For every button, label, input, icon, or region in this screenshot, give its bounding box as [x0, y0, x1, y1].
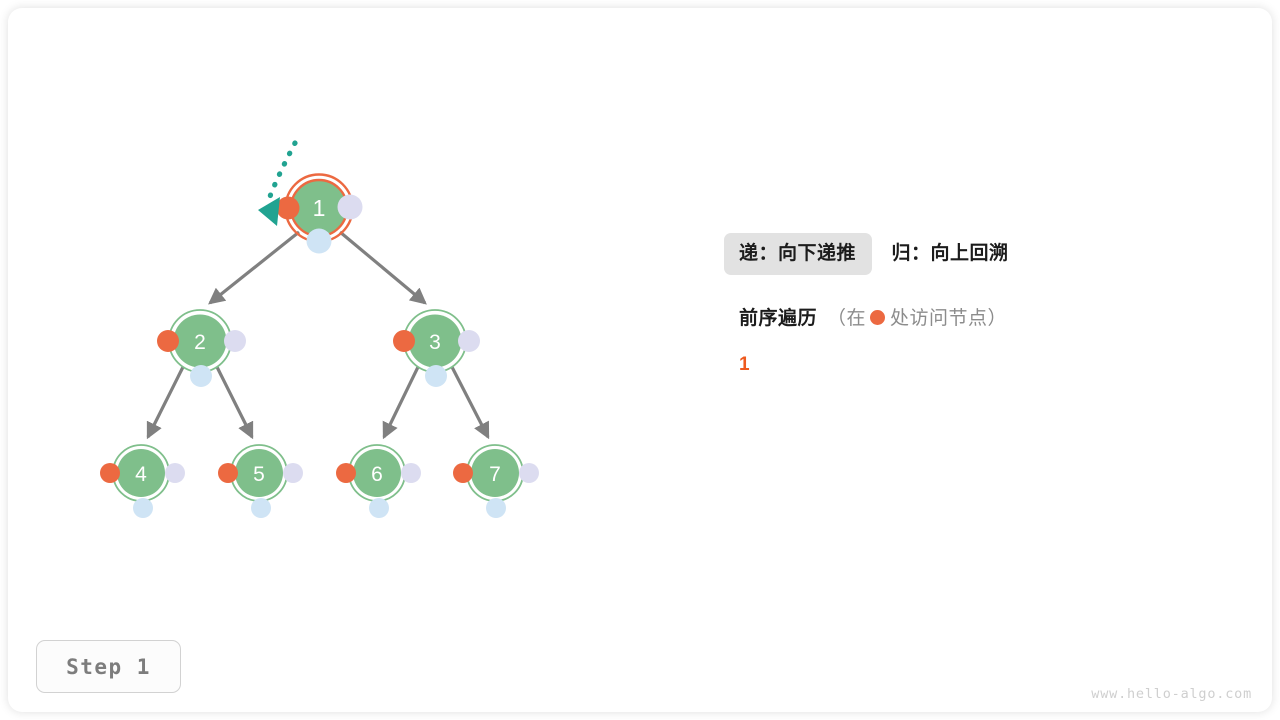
node-7-right-dot — [519, 463, 539, 483]
traversal-result: 1 — [726, 354, 1196, 376]
node-7-label: 7 — [489, 463, 501, 486]
tree-node-3[interactable]: 3 — [393, 310, 480, 387]
edge-2-4 — [148, 367, 183, 437]
node-1-label: 1 — [313, 195, 326, 221]
node-3-label: 3 — [429, 331, 441, 354]
traversal-note-suffix: 处访问节点） — [890, 303, 1007, 330]
node-3-visit-dot — [393, 330, 415, 352]
step-badge: Step 1 — [36, 640, 181, 693]
node-2-label: 2 — [194, 331, 206, 354]
node-6-right-dot — [401, 463, 421, 483]
node-6-visit-dot — [336, 463, 356, 483]
node-5-right-dot — [283, 463, 303, 483]
node-2-bottom-dot — [190, 365, 212, 387]
visit-marker-dot — [870, 310, 885, 325]
site-watermark: www.hello-algo.com — [1091, 686, 1252, 702]
node-7-visit-dot — [453, 463, 473, 483]
tree-node-6[interactable]: 6 — [336, 445, 421, 518]
node-4-right-dot — [165, 463, 185, 483]
step-label: Step 1 — [66, 655, 151, 679]
edge-3-7 — [452, 367, 488, 437]
node-4-label: 4 — [135, 463, 147, 486]
legend-recurse-down: 递：向下递推 — [724, 233, 872, 275]
node-7-bottom-dot — [486, 498, 506, 518]
pointer-dotted-path — [268, 143, 295, 202]
edge-1-3 — [340, 232, 425, 303]
traversal-note-prefix: （在 — [827, 303, 866, 330]
legend-recurse-down-text: 递：向下递推 — [739, 243, 856, 264]
node-2-right-dot — [224, 330, 246, 352]
edge-2-5 — [217, 367, 252, 437]
node-4-bottom-dot — [133, 498, 153, 518]
tree-node-7[interactable]: 7 — [453, 445, 539, 518]
node-6-label: 6 — [371, 463, 383, 486]
edge-3-6 — [384, 367, 418, 437]
edge-1-2 — [210, 232, 299, 303]
node-1-bottom-dot — [307, 229, 332, 254]
node-1-right-dot — [338, 195, 363, 220]
node-1-visit-dot — [277, 197, 300, 220]
traversal-order-title: 前序遍历 — [739, 303, 817, 330]
node-2-visit-dot — [157, 330, 179, 352]
node-4-visit-dot — [100, 463, 120, 483]
screenshot-canvas: 1 2 3 4 — [0, 0, 1280, 720]
tree-node-5[interactable]: 5 — [218, 445, 303, 518]
node-6-bottom-dot — [369, 498, 389, 518]
node-5-label: 5 — [253, 463, 265, 486]
node-5-bottom-dot — [251, 498, 271, 518]
legend-return-up-text: 归：向上回溯 — [891, 243, 1008, 264]
legend-return-up: 归：向上回溯 — [876, 232, 1024, 271]
tree-node-4[interactable]: 4 — [100, 445, 185, 518]
info-panel: 递：向下递推 归：向上回溯 前序遍历 （在 处访问节点） 1 — [726, 232, 1196, 376]
node-3-bottom-dot — [425, 365, 447, 387]
tree-node-2[interactable]: 2 — [157, 310, 246, 387]
node-5-visit-dot — [218, 463, 238, 483]
pointer-arrowhead — [258, 197, 280, 226]
traversal-order-heading: 前序遍历 （在 处访问节点） — [726, 303, 1196, 330]
node-3-right-dot — [458, 330, 480, 352]
